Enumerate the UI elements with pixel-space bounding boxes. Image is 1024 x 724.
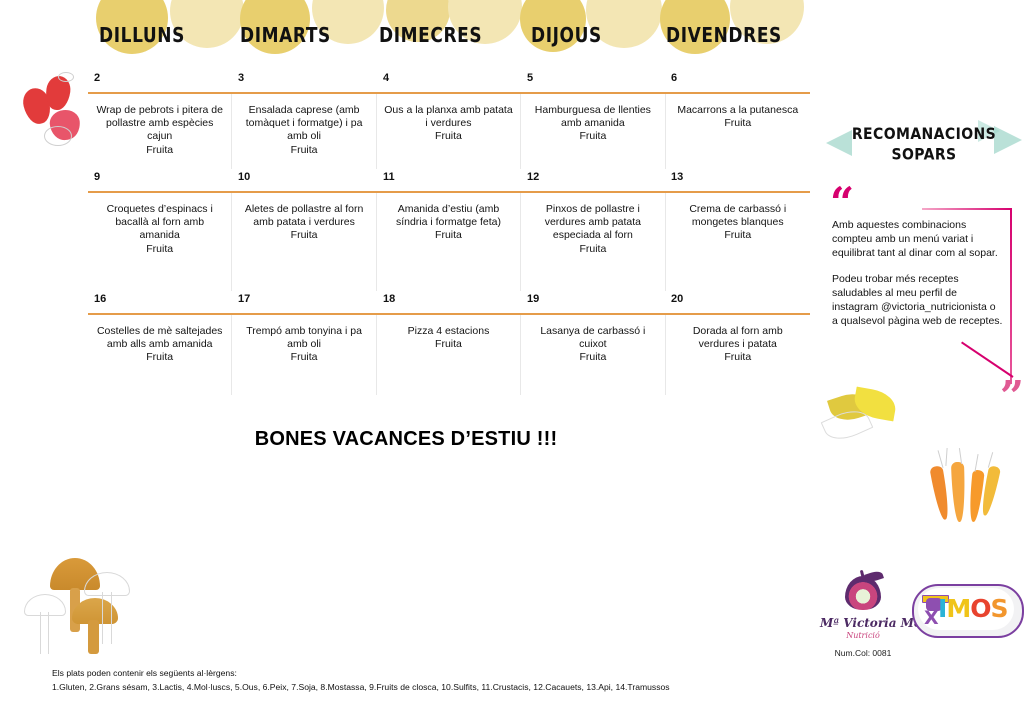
day-header-dijous: DIJOUS	[531, 24, 602, 48]
recommendations-title-line1: RECOMANACIONS	[852, 125, 996, 143]
menu-dish: Pinxos de pollastre i verdures amb patat…	[545, 203, 641, 241]
menu-cell: Amanida d’estiu (amb síndria i formatge …	[377, 193, 521, 291]
recommendations-title-block: RECOMANACIONS SOPARS	[824, 124, 1024, 168]
date-number: 2	[94, 72, 100, 84]
menu-dish: Ous a la planxa amb patata i verdures	[384, 104, 512, 129]
day-header-dimecres: DIMECRES	[379, 24, 482, 48]
logo-row: Mª Victoria Mora Nutrició Num.Col: 0081 …	[812, 568, 1024, 672]
ximos-letter-s: S	[990, 594, 1007, 623]
day-header-dilluns: DILLUNS	[99, 24, 185, 48]
menu-dessert: Fruita	[95, 351, 224, 364]
recommendations-quote-box: “ ” Amb aquestes combinacions compteu am…	[826, 186, 1012, 398]
date-number: 6	[671, 72, 677, 84]
menu-cell: Pinxos de pollastre i verdures amb patat…	[521, 193, 665, 291]
menu-dish: Wrap de pebrots i pitera de pollastre am…	[96, 104, 222, 142]
day-header-divendres: DIVENDRES	[666, 24, 782, 48]
recommendations-title: RECOMANACIONS SOPARS	[824, 124, 1024, 165]
recommendations-paragraph-1: Amb aquestes combinacions compteu amb un…	[832, 218, 1004, 261]
menu-dessert: Fruita	[528, 351, 657, 364]
date-number: 13	[671, 171, 683, 183]
menu-grid: 2 3 4 5 6 Wrap de pebrots i pitera de po…	[88, 70, 810, 395]
menu-dessert: Fruita	[384, 130, 513, 143]
fig-icon	[837, 572, 889, 614]
date-number: 18	[383, 293, 395, 305]
date-number: 17	[238, 293, 250, 305]
menu-cell: Croquetes d’espinacs i bacallà al forn a…	[88, 193, 232, 291]
recommendations-paragraph-2: Podeu trobar més receptes saludables al …	[832, 272, 1004, 329]
allergen-footer: Els plats poden contenir els següents al…	[52, 668, 812, 692]
ximos-wordmark: IMOS	[938, 596, 1007, 621]
ximos-letter-o: O	[970, 594, 990, 623]
menu-dessert: Fruita	[528, 243, 657, 256]
quote-frame-right	[1010, 208, 1012, 384]
quote-close-icon: ”	[1000, 380, 1022, 414]
menu-cell: Crema de carbassó i mongetes blanques Fr…	[666, 193, 810, 291]
college-number: Num.Col: 0081	[820, 648, 906, 658]
menu-dessert: Fruita	[528, 130, 657, 143]
menu-cell: Lasanya de carbassó i cuixot Fruita	[521, 315, 665, 395]
menu-dish: Ensalada caprese (amb tomàquet i formatg…	[246, 104, 363, 142]
menu-dessert: Fruita	[239, 229, 368, 242]
menu-dish: Hamburguesa de llenties amb amanida	[535, 104, 651, 129]
recommendations-text: Amb aquestes combinacions compteu amb un…	[832, 218, 1004, 339]
date-number: 10	[238, 171, 250, 183]
nutritionist-logo: Mª Victoria Mora Nutrició Num.Col: 0081	[820, 572, 906, 658]
nutritionist-name: Mª Victoria Mora	[820, 616, 906, 630]
menu-dessert: Fruita	[95, 144, 224, 157]
mushroom-illustration	[22, 548, 138, 656]
date-row: 16 17 18 19 20	[88, 291, 810, 313]
menu-dessert: Fruita	[384, 338, 513, 351]
day-header-dimarts: DIMARTS	[240, 24, 331, 48]
menu-dish: Trempó amb tonyina i pa amb oli	[246, 325, 362, 350]
carrot-illustration	[930, 448, 1010, 534]
date-number: 20	[671, 293, 683, 305]
holiday-headline: BONES VACANCES D’ESTIU !!!	[0, 428, 812, 451]
menu-week-3: 16 17 18 19 20 Costelles de mè saltejade…	[88, 291, 810, 395]
menu-week-2: 9 10 11 12 13 Croquetes d’espinacs i bac…	[88, 169, 810, 291]
recommendations-title-line2: SOPARS	[891, 146, 956, 164]
menu-cell: Trempó amb tonyina i pa amb oli Fruita	[232, 315, 376, 395]
allergen-list: 1.Gluten, 2.Grans sésam, 3.Lactis, 4.Mol…	[52, 682, 812, 692]
menu-cell: Pizza 4 estacions Fruita	[377, 315, 521, 395]
date-number: 19	[527, 293, 539, 305]
menu-cell: Hamburguesa de llenties amb amanida Frui…	[521, 94, 665, 169]
date-number: 9	[94, 171, 100, 183]
date-row: 2 3 4 5 6	[88, 70, 810, 92]
menu-dish: Pizza 4 estacions	[408, 325, 490, 337]
date-number: 4	[383, 72, 389, 84]
date-number: 11	[383, 171, 395, 183]
allergen-intro: Els plats poden contenir els següents al…	[52, 668, 812, 678]
menu-dish: Croquetes d’espinacs i bacallà al forn a…	[107, 203, 213, 241]
menu-cell: Wrap de pebrots i pitera de pollastre am…	[88, 94, 232, 169]
menu-dish: Aletes de pollastre al forn amb patata i…	[245, 203, 363, 228]
menu-week-1: 2 3 4 5 6 Wrap de pebrots i pitera de po…	[88, 70, 810, 169]
menu-cell: Macarrons a la putanesca Fruita	[666, 94, 810, 169]
quote-frame-top	[922, 208, 1012, 210]
menu-cell: Ensalada caprese (amb tomàquet i formatg…	[232, 94, 376, 169]
menu-dessert: Fruita	[239, 351, 368, 364]
ximos-letter-m: M	[946, 594, 970, 623]
menu-dessert: Fruita	[673, 351, 803, 364]
menu-dessert: Fruita	[673, 117, 803, 130]
date-number: 3	[238, 72, 244, 84]
menu-cell: Dorada al forn amb verdures i patata Fru…	[666, 315, 810, 395]
ximos-letter-x: X	[924, 609, 939, 628]
menu-dish: Costelles de mè saltejades amb alls amb …	[97, 325, 222, 350]
date-row: 9 10 11 12 13	[88, 169, 810, 191]
menu-cell: Aletes de pollastre al forn amb patata i…	[232, 193, 376, 291]
menu-dessert: Fruita	[384, 229, 513, 242]
date-number: 5	[527, 72, 533, 84]
menu-cell: Costelles de mè saltejades amb alls amb …	[88, 315, 232, 395]
menu-dessert: Fruita	[239, 144, 368, 157]
menu-dish: Lasanya de carbassó i cuixot	[540, 325, 645, 350]
menu-dish: Amanida d’estiu (amb síndria i formatge …	[396, 203, 501, 228]
menu-dish: Crema de carbassó i mongetes blanques	[689, 203, 786, 228]
ximos-brand-logo: X IMOS	[912, 578, 1020, 640]
menu-dessert: Fruita	[673, 229, 803, 242]
menu-cell: Ous a la planxa amb patata i verdures Fr…	[377, 94, 521, 169]
menu-dessert: Fruita	[95, 243, 224, 256]
menu-dish: Macarrons a la putanesca	[677, 104, 798, 116]
menu-dish: Dorada al forn amb verdures i patata	[693, 325, 783, 350]
date-number: 12	[527, 171, 539, 183]
quote-open-icon: “	[830, 186, 852, 220]
nutritionist-role: Nutrició	[820, 631, 906, 640]
date-number: 16	[94, 293, 106, 305]
leaf-illustration	[824, 386, 914, 446]
